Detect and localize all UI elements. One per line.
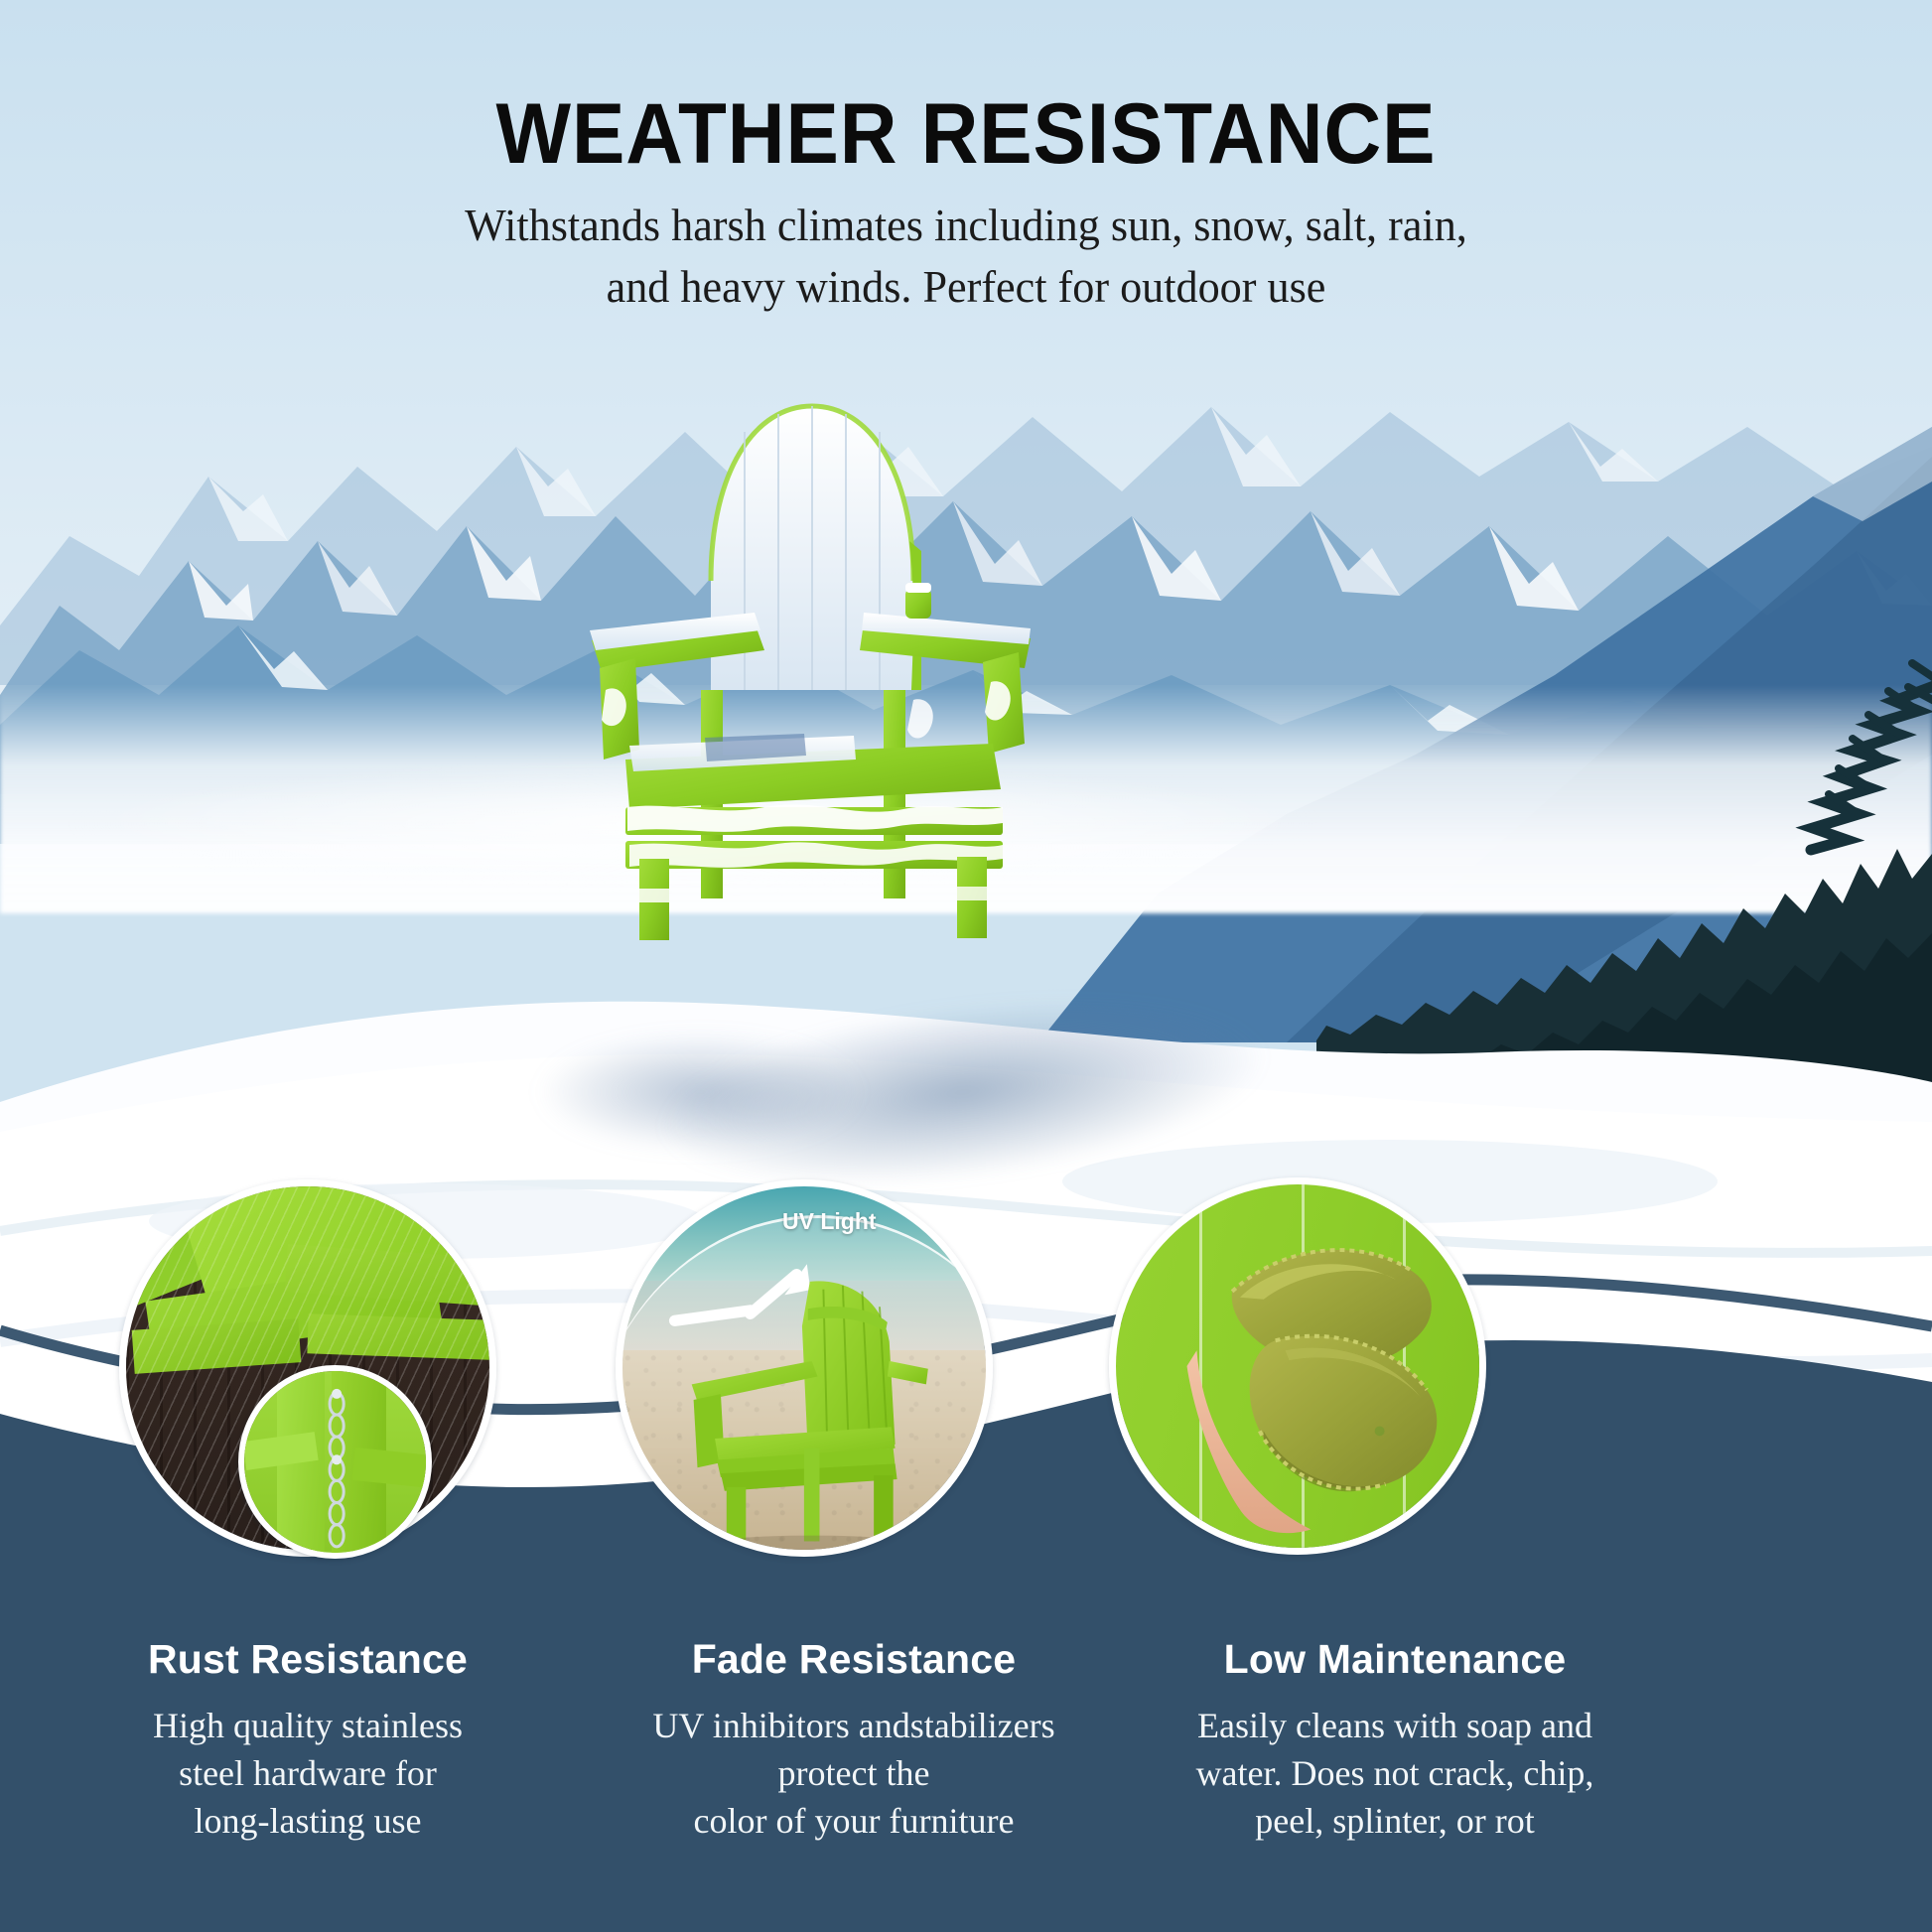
feature-body-line: color of your furniture	[694, 1801, 1015, 1841]
feature-heading-low: Low Maintenance	[1147, 1636, 1643, 1683]
feature-body-line: peel, splinter, or rot	[1255, 1801, 1534, 1841]
feature-body-line: water. Does not crack, chip,	[1196, 1753, 1594, 1793]
feature-body-fade: UV inhibitors andstabilizers protect the…	[616, 1703, 1092, 1846]
uv-light-label: UV Light	[782, 1208, 877, 1235]
page-subtitle: Withstands harsh climates including sun,…	[39, 195, 1893, 317]
feature-body-rust: High quality stainless steel hardware fo…	[74, 1703, 541, 1846]
feature-body-line: steel hardware for	[179, 1753, 437, 1793]
feature-block-fade: Fade Resistance UV inhibitors andstabili…	[616, 1636, 1092, 1846]
pine-branch-icon	[1714, 643, 1932, 862]
feature-body-line: long-lasting use	[195, 1801, 422, 1841]
feature-heading-rust: Rust Resistance	[74, 1636, 541, 1683]
feature-image-fade-resistance: UV Light	[616, 1179, 993, 1557]
page-title: WEATHER RESISTANCE	[68, 91, 1864, 177]
stainless-chain-icon	[317, 1386, 356, 1550]
feature-body-line: protect the	[778, 1753, 930, 1793]
feature-heading-fade: Fade Resistance	[616, 1636, 1092, 1683]
hero-chair-image	[556, 392, 1072, 948]
subtitle-line-2: and heavy winds. Perfect for outdoor use	[39, 256, 1893, 318]
feature-image-rust-hardware-detail	[238, 1365, 432, 1559]
feature-body-line: High quality stainless	[153, 1706, 463, 1745]
feature-body-line: UV inhibitors andstabilizers	[652, 1706, 1054, 1745]
feature-image-low-maintenance	[1109, 1177, 1486, 1555]
feature-block-rust: Rust Resistance High quality stainless s…	[74, 1636, 541, 1846]
feature-body-low: Easily cleans with soap and water. Does …	[1147, 1703, 1643, 1846]
feature-body-line: Easily cleans with soap and	[1197, 1706, 1592, 1745]
feature-block-low-maintenance: Low Maintenance Easily cleans with soap …	[1147, 1636, 1643, 1846]
infographic-canvas: WEATHER RESISTANCE Withstands harsh clim…	[0, 0, 1932, 1932]
subtitle-line-1: Withstands harsh climates including sun,…	[39, 195, 1893, 256]
